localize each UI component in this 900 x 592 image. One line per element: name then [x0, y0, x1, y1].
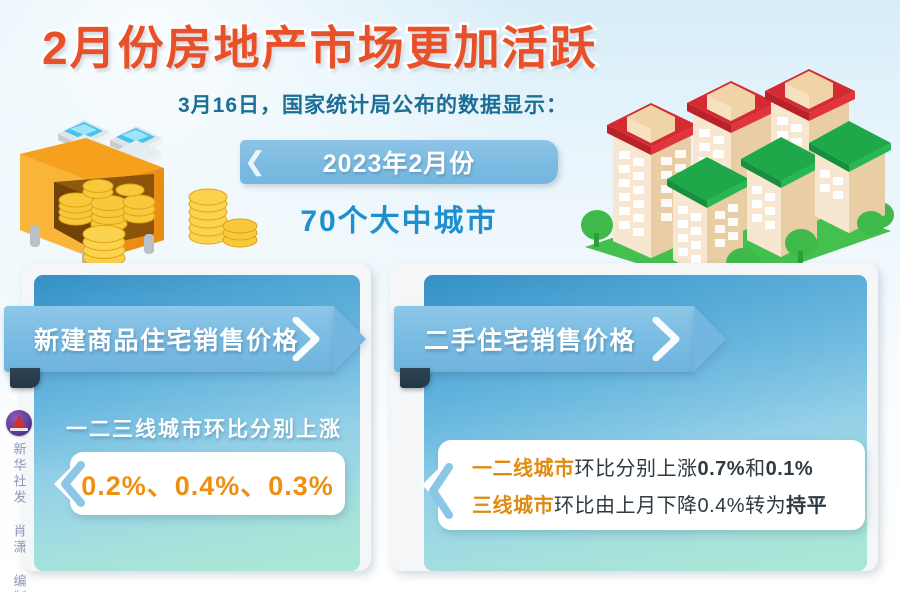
line-value-a: 0.7% [698, 458, 746, 480]
residential-buildings-icon [575, 55, 895, 290]
credit-block: 新华社发 肖潇 编制 [2, 410, 36, 592]
ribbon-second-hand: 二手住宅销售价格 [394, 306, 694, 372]
ribbon-label-new-homes: 新建商品住宅销售价格 [34, 306, 299, 372]
line-prefix: 一二线城市 [472, 458, 575, 480]
callout-value-new-homes: 0.2%、0.4%、0.3% [70, 452, 345, 515]
page-title: 2月份房地产市场更加活跃 [42, 12, 598, 78]
line-value-a: 0.4% [698, 495, 746, 517]
chevron-right-icon [292, 317, 320, 361]
line-value-b: 0.1% [766, 458, 814, 480]
ribbon-fold [400, 368, 430, 388]
line-conj: 转为 [745, 495, 786, 517]
callout-line: 一二线城市环比分别上涨0.7%和0.1% [472, 452, 827, 481]
credit-text: 新华社发 肖潇 编制 [12, 442, 27, 592]
ribbon-tail [334, 306, 366, 372]
line-conj: 和 [745, 458, 766, 480]
chevron-right-icon [652, 317, 680, 361]
period-banner: ❮ 2023年2月份 [240, 140, 558, 184]
callout-line: 三线城市环比由上月下降0.4%转为持平 [472, 489, 827, 518]
ribbon-new-homes: 新建商品住宅销售价格 [4, 306, 334, 372]
callout-lines-second-hand: 一二线城市环比分别上涨0.7%和0.1% 三线城市环比由上月下降0.4%转为持平 [472, 440, 827, 530]
line-value-b: 持平 [786, 495, 827, 517]
ribbon-label-second-hand: 二手住宅销售价格 [424, 306, 636, 372]
ribbon-tail [694, 306, 726, 372]
line-prefix: 三线城市 [472, 495, 554, 517]
line-mid: 环比分别上涨 [575, 458, 698, 480]
money-box-with-coins-icon [12, 112, 262, 267]
infographic-canvas: 2月份房地产市场更加活跃 3月16日，国家统计局公布的数据显示： [0, 0, 900, 592]
callout-new-homes: 0.2%、0.4%、0.3% [70, 452, 345, 515]
ribbon-fold [10, 368, 40, 388]
callout-second-hand: 一二线城市环比分别上涨0.7%和0.1% 三线城市环比由上月下降0.4%转为持平 [438, 440, 865, 530]
line-mid: 环比由上月下降 [554, 495, 698, 517]
period-label: 2023年2月份 [240, 140, 558, 184]
xinhua-logo-icon [6, 410, 32, 436]
lead-text-new-homes: 一二三线城市环比分别上涨 [66, 413, 342, 443]
scope-label: 70个大中城市 [240, 196, 558, 240]
chevron-left-icon [428, 462, 454, 508]
